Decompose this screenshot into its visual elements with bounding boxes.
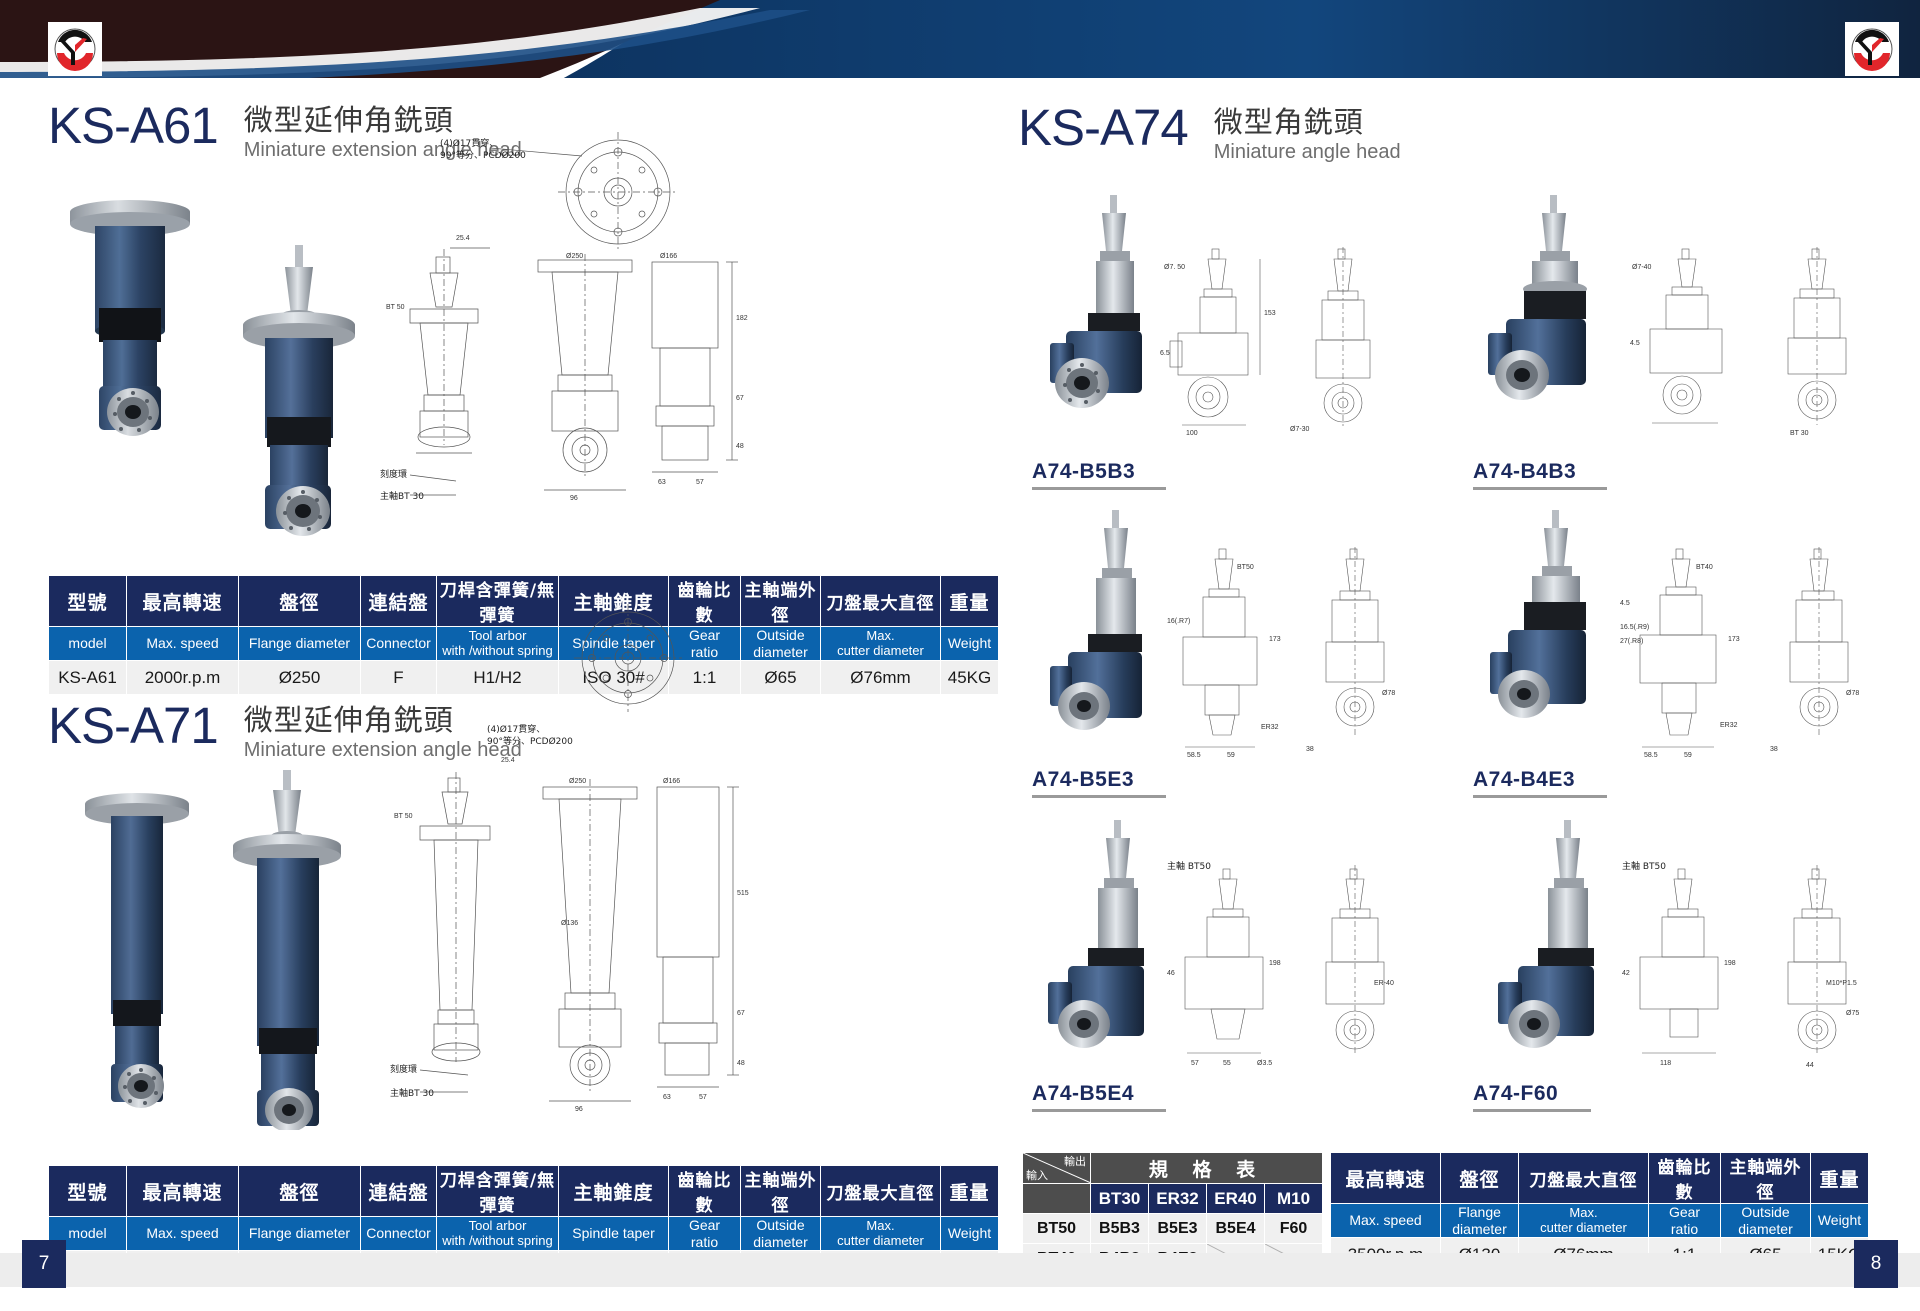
svg-text:4.5: 4.5 xyxy=(1630,340,1640,347)
matrix-corner-in: 輸入 xyxy=(1026,1167,1048,1183)
drawing-label-spindle-bt30: 主軸BT 30 xyxy=(390,1087,434,1099)
svg-text:主軸 BT50: 主軸 BT50 xyxy=(1167,860,1211,872)
drawing-dim-d166: Ø166 xyxy=(663,778,680,785)
svg-text:6.5: 6.5 xyxy=(1160,350,1170,357)
drawing-dim-57: 57 xyxy=(699,1094,707,1101)
ks-a71-drawing-front-view: Ø250 Ø136 96 xyxy=(535,775,645,1125)
drawing-label-scale-ring: 刻度環 xyxy=(380,468,407,480)
svg-text:57: 57 xyxy=(1191,1060,1199,1067)
svg-text:153: 153 xyxy=(1264,310,1276,317)
th-cn-flange: 盤徑 xyxy=(239,1166,361,1217)
th-cn-connector: 連結盤 xyxy=(361,576,437,627)
th-en-outside: Outside diameter xyxy=(741,627,821,661)
drawing-dim-515: 515 xyxy=(737,890,749,897)
company-logo-left xyxy=(48,22,102,76)
product-name-cn: 微型延伸角銑頭 xyxy=(244,704,522,737)
drawing-dim-67: 67 xyxy=(736,395,744,402)
drawing-label-bt50: BT 50 xyxy=(394,813,413,820)
table-header-row-cn: 型號 最高轉速 盤徑 連結盤 刀桿含彈簧/無彈簧 主軸錐度 齒輪比數 主軸端外徑… xyxy=(49,1166,999,1217)
td-connector: F xyxy=(361,661,437,695)
th-cn-weight: 重量 xyxy=(941,1166,999,1217)
svg-text:Ø7-40: Ø7-40 xyxy=(1632,264,1652,271)
page-number-right: 8 xyxy=(1854,1240,1898,1288)
spec-table-ks-a61: 型號 最高轉速 盤徑 連結盤 刀桿含彈簧/無彈簧 主軸錐度 齒輪比數 主軸端外徑… xyxy=(48,575,999,695)
product-name-en: Miniature angle head xyxy=(1214,139,1401,165)
td-outside: Ø65 xyxy=(741,661,821,695)
a74-b5b3-drawing: Ø7. 50 153 100 6.5 xyxy=(1160,245,1290,440)
footer-bar xyxy=(0,1253,1920,1287)
a74-b4b3-photo xyxy=(1470,195,1620,435)
drawing-dim-d250: Ø250 xyxy=(566,253,583,260)
svg-text:198: 198 xyxy=(1269,960,1281,967)
matrix-corner-out: 輸出 xyxy=(1064,1153,1086,1169)
drawing-dim-254: 25.4 xyxy=(501,757,515,764)
svg-text:ER32: ER32 xyxy=(1261,724,1279,731)
svg-text:59: 59 xyxy=(1227,752,1235,759)
a74-b5e3-drawing: BT50 16(.R7) ER32 58.5 59 173 xyxy=(1165,545,1300,760)
th-cn-outside: 主軸端外徑 xyxy=(741,576,821,627)
svg-text:4.5: 4.5 xyxy=(1620,600,1630,607)
a74-b5e4-drawing-2: ER-40 xyxy=(1300,855,1410,1075)
th-en-cutter: Max. cutter diameter xyxy=(821,1217,941,1251)
svg-text:173: 173 xyxy=(1728,636,1740,643)
th-en-taper: Spindle taper xyxy=(559,1217,669,1251)
th-cn-cutter: 刀盤最大直徑 xyxy=(821,1166,941,1217)
drawing-dim-d166: Ø166 xyxy=(660,253,677,260)
a74-b5b3-photo xyxy=(1030,195,1180,435)
th-en-cutter: Max. cutter diameter xyxy=(821,627,941,661)
svg-text:16(.R7): 16(.R7) xyxy=(1167,618,1190,625)
th-en-model: model xyxy=(49,627,127,661)
svg-text:42: 42 xyxy=(1622,970,1630,977)
banner-graphic xyxy=(0,0,1920,86)
th-en-weight: Weight xyxy=(941,1217,999,1251)
th-en-connector: Connector xyxy=(361,627,437,661)
company-logo-icon xyxy=(1848,25,1896,73)
product-name-cn: 微型角銑頭 xyxy=(1214,106,1401,139)
table-row: KS-A61 2000r.p.m Ø250 F H1/H2 ISO 30# 1:… xyxy=(49,661,999,695)
th-en-outside: Outside diameter xyxy=(1721,1204,1811,1238)
drawing-dim-d136: Ø136 xyxy=(561,920,578,927)
th-cn-speed: 最高轉速 xyxy=(1331,1153,1441,1204)
drawing-dim-57: 57 xyxy=(696,479,704,486)
th-cn-arbor: 刀桿含彈簧/無彈簧 xyxy=(437,1166,559,1217)
drawing-label-scale-ring: 刻度環 xyxy=(390,1063,417,1075)
svg-text:ER-40: ER-40 xyxy=(1374,980,1394,987)
ks-a61-drawing-section: BT 50 刻度環 主軸BT 30 xyxy=(380,245,555,525)
svg-text:58.5: 58.5 xyxy=(1187,752,1201,759)
th-cn-connector: 連結盤 xyxy=(361,1166,437,1217)
drawing-dim-96: 96 xyxy=(570,495,578,502)
ks-a61-photo-1 xyxy=(55,190,215,480)
th-en-outside: Outside diameter xyxy=(741,1217,821,1251)
ks-a61-drawing-side-view: 182 67 48 63 57 Ø166 xyxy=(640,250,750,525)
drawing-dim-182: 182 xyxy=(736,315,748,322)
th-en-speed: Max. speed xyxy=(127,627,239,661)
th-en-cutter: Max. cutter diameter xyxy=(1519,1204,1649,1238)
drawing-note-hole: (4)Ø17貫穿、 xyxy=(487,723,545,735)
th-cn-taper: 主軸錐度 xyxy=(559,1166,669,1217)
table-header-row-en: Max. speed Flange diameter Max. cutter d… xyxy=(1331,1204,1869,1238)
drawing-dim-d250: Ø250 xyxy=(569,778,586,785)
matrix-row-head-bt50: BT50 xyxy=(1023,1214,1091,1244)
th-cn-weight: 重量 xyxy=(941,576,999,627)
drawing-note-pcd: 90°等分、PCDØ200 xyxy=(440,149,526,161)
svg-text:M10*P1.5: M10*P1.5 xyxy=(1826,980,1857,987)
matrix-col-er40: ER40 xyxy=(1207,1184,1265,1214)
svg-text:38: 38 xyxy=(1770,746,1778,753)
catalog-spread: KS-A61 微型延伸角銑頭 Miniature extension angle… xyxy=(0,0,1920,1311)
a74-b5b3-drawing-2: Ø7-30 xyxy=(1288,245,1398,440)
matrix-cell-f60: F60 xyxy=(1265,1214,1323,1244)
company-logo-right xyxy=(1845,22,1899,76)
th-cn-outside: 主軸端外徑 xyxy=(1721,1153,1811,1204)
th-en-flange: Flange diameter xyxy=(239,627,361,661)
ks-a61-drawing-front-view: Ø250 96 xyxy=(530,250,640,525)
drawing-dim-48: 48 xyxy=(737,1060,745,1067)
svg-text:16.5(.R9): 16.5(.R9) xyxy=(1620,624,1649,631)
svg-text:55: 55 xyxy=(1223,1060,1231,1067)
matrix-cell-b5e3: B5E3 xyxy=(1149,1214,1207,1244)
drawing-dim-254: 25.4 xyxy=(456,235,470,242)
svg-text:Ø78: Ø78 xyxy=(1382,690,1395,697)
svg-text:BT40: BT40 xyxy=(1696,564,1713,571)
drawing-note-hole: (4)Ø17貫穿、 xyxy=(440,137,498,149)
product-code: KS-A74 xyxy=(1018,102,1188,153)
a74-b5e4-drawing: 主軸 BT50 46 57 55 Ø3.5 198 xyxy=(1165,855,1305,1075)
product-code: KS-A61 xyxy=(48,100,218,151)
matrix-title: 規 格 表 xyxy=(1091,1153,1323,1184)
matrix-corner-cell: 輸出 輸入 xyxy=(1023,1153,1091,1184)
th-en-flange: Flange diameter xyxy=(1441,1204,1519,1238)
th-cn-cutter: 刀盤最大直徑 xyxy=(1519,1153,1649,1204)
td-weight: 45KG xyxy=(941,661,999,695)
matrix-cell-b5e4: B5E4 xyxy=(1207,1214,1265,1244)
variant-label-a74-b5e4: A74-B5E4 xyxy=(1032,1082,1166,1112)
table-header-row-en: model Max. speed Flange diameter Connect… xyxy=(49,1217,999,1251)
product-code: KS-A71 xyxy=(48,700,218,751)
td-model: KS-A61 xyxy=(49,661,127,695)
th-en-speed: Max. speed xyxy=(1331,1204,1441,1238)
a74-b5e4-photo xyxy=(1030,820,1180,1070)
matrix-corner-spacer xyxy=(1023,1184,1091,1214)
svg-text:38: 38 xyxy=(1306,746,1314,753)
svg-text:主軸 BT50: 主軸 BT50 xyxy=(1622,860,1666,872)
drawing-label-spindle-bt30: 主軸BT 30 xyxy=(380,490,424,502)
svg-text:46: 46 xyxy=(1167,970,1175,977)
th-en-flange: Flange diameter xyxy=(239,1217,361,1251)
matrix-col-er32: ER32 xyxy=(1149,1184,1207,1214)
a74-b4e3-drawing-2: 38 Ø78 xyxy=(1762,545,1877,760)
svg-text:173: 173 xyxy=(1269,636,1281,643)
product-title-ks-a71: KS-A71 微型延伸角銑頭 Miniature extension angle… xyxy=(48,700,522,763)
th-cn-speed: 最高轉速 xyxy=(127,576,239,627)
ks-a71-photo-2 xyxy=(205,770,375,1130)
drawing-dim-63: 63 xyxy=(658,479,666,486)
a74-f60-drawing-2: M10*P1.5 Ø75 44 xyxy=(1760,855,1880,1075)
variant-label-a74-b5e3: A74-B5E3 xyxy=(1032,768,1166,798)
th-en-weight: Weight xyxy=(941,627,999,661)
matrix-row-bt50: BT50 B5B3 B5E3 B5E4 F60 xyxy=(1023,1214,1323,1244)
variant-label-a74-f60: A74-F60 xyxy=(1473,1082,1591,1112)
th-cn-flange: 盤徑 xyxy=(239,576,361,627)
drawing-label-bt50: BT 50 xyxy=(386,304,405,311)
a74-b5e3-drawing-2: 38 Ø78 xyxy=(1300,545,1410,760)
th-en-weight: Weight xyxy=(1811,1204,1869,1238)
svg-text:Ø3.5: Ø3.5 xyxy=(1257,1060,1272,1067)
matrix-title-row: 輸出 輸入 規 格 表 xyxy=(1023,1153,1323,1184)
svg-text:Ø75: Ø75 xyxy=(1846,1010,1859,1017)
ks-a61-photo-2 xyxy=(215,245,390,550)
matrix-col-bt30: BT30 xyxy=(1091,1184,1149,1214)
a74-b5e3-photo xyxy=(1030,510,1180,755)
drawing-dim-96: 96 xyxy=(575,1106,583,1113)
th-cn-speed: 最高轉速 xyxy=(127,1166,239,1217)
svg-text:100: 100 xyxy=(1186,430,1198,437)
a74-b4b3-drawing-2: BT 30 xyxy=(1760,245,1875,440)
td-flange: Ø250 xyxy=(239,661,361,695)
svg-text:198: 198 xyxy=(1724,960,1736,967)
svg-text:Ø78: Ø78 xyxy=(1846,690,1859,697)
a74-f60-drawing: 主軸 BT50 42 118 198 xyxy=(1620,855,1760,1075)
th-en-gear: Gear ratio xyxy=(669,1217,741,1251)
matrix-cell-b5b3: B5B3 xyxy=(1091,1214,1149,1244)
th-cn-gear: 齒輪比數 xyxy=(1649,1153,1721,1204)
ks-a71-drawing-note: (4)Ø17貫穿、 90°等分、PCDØ200 25.4 xyxy=(485,718,665,768)
td-cutter: Ø76mm xyxy=(821,661,941,695)
th-cn-outside: 主軸端外徑 xyxy=(741,1166,821,1217)
th-en-speed: Max. speed xyxy=(127,1217,239,1251)
svg-text:Ø7. 50: Ø7. 50 xyxy=(1164,264,1185,271)
th-en-arbor: Tool arbor with /without spring xyxy=(437,1217,559,1251)
company-logo-icon xyxy=(51,25,99,73)
svg-text:ER32: ER32 xyxy=(1720,722,1738,729)
svg-text:59: 59 xyxy=(1684,752,1692,759)
svg-text:44: 44 xyxy=(1806,1062,1814,1069)
a74-f60-photo xyxy=(1480,820,1630,1070)
svg-text:27(.R8): 27(.R8) xyxy=(1620,638,1643,645)
th-en-gear: Gear ratio xyxy=(1649,1204,1721,1238)
th-cn-model: 型號 xyxy=(49,1166,127,1217)
matrix-col-header-row: BT30 ER32 ER40 M10 xyxy=(1023,1184,1323,1214)
product-name-en: Miniature extension angle head xyxy=(244,737,522,763)
top-banner xyxy=(0,0,1920,86)
table-header-row-cn: 最高轉速 盤徑 刀盤最大直徑 齒輪比數 主軸端外徑 重量 xyxy=(1331,1153,1869,1204)
variant-label-a74-b4b3: A74-B4B3 xyxy=(1473,460,1607,490)
table-header-row-en: model Max. speed Flange diameter Connect… xyxy=(49,627,999,661)
th-cn-cutter: 刀盤最大直徑 xyxy=(821,576,941,627)
drawing-dim-67: 67 xyxy=(737,1010,745,1017)
product-title-ks-a74: KS-A74 微型角銑頭 Miniature angle head xyxy=(1018,102,1401,165)
page-number-left: 7 xyxy=(22,1240,66,1288)
th-cn-gear: 齒輪比數 xyxy=(669,1166,741,1217)
ks-a71-drawing-top-view xyxy=(530,600,730,725)
ks-a71-photo-1 xyxy=(75,790,205,1130)
th-en-connector: Connector xyxy=(361,1217,437,1251)
a74-b4e3-photo xyxy=(1470,510,1620,755)
ks-a71-drawing-side-view: 515 67 48 63 57 Ø166 xyxy=(645,775,760,1125)
td-speed: 2000r.p.m xyxy=(127,661,239,695)
svg-text:BT 30: BT 30 xyxy=(1790,430,1809,437)
th-cn-weight: 重量 xyxy=(1811,1153,1869,1204)
svg-text:Ø7-30: Ø7-30 xyxy=(1290,426,1310,433)
variant-label-a74-b4e3: A74-B4E3 xyxy=(1473,768,1607,798)
svg-text:118: 118 xyxy=(1660,1060,1671,1067)
drawing-note-pcd: 90°等分、PCDØ200 xyxy=(487,735,573,747)
a74-b4e3-drawing: BT40 4.5 16.5(.R9) 27(.R8) ER32 58.5 59 … xyxy=(1620,545,1760,760)
table-header-row-cn: 型號 最高轉速 盤徑 連結盤 刀桿含彈簧/無彈簧 主軸錐度 齒輪比數 主軸端外徑… xyxy=(49,576,999,627)
svg-text:BT50: BT50 xyxy=(1237,564,1254,571)
drawing-dim-63: 63 xyxy=(663,1094,671,1101)
th-cn-flange: 盤徑 xyxy=(1441,1153,1519,1204)
a74-b4b3-drawing: Ø7-40 4.5 xyxy=(1630,245,1760,440)
th-cn-model: 型號 xyxy=(49,576,127,627)
drawing-dim-48: 48 xyxy=(736,443,744,450)
svg-text:58.5: 58.5 xyxy=(1644,752,1658,759)
variant-label-a74-b5b3: A74-B5B3 xyxy=(1032,460,1166,490)
matrix-col-m10: M10 xyxy=(1265,1184,1323,1214)
